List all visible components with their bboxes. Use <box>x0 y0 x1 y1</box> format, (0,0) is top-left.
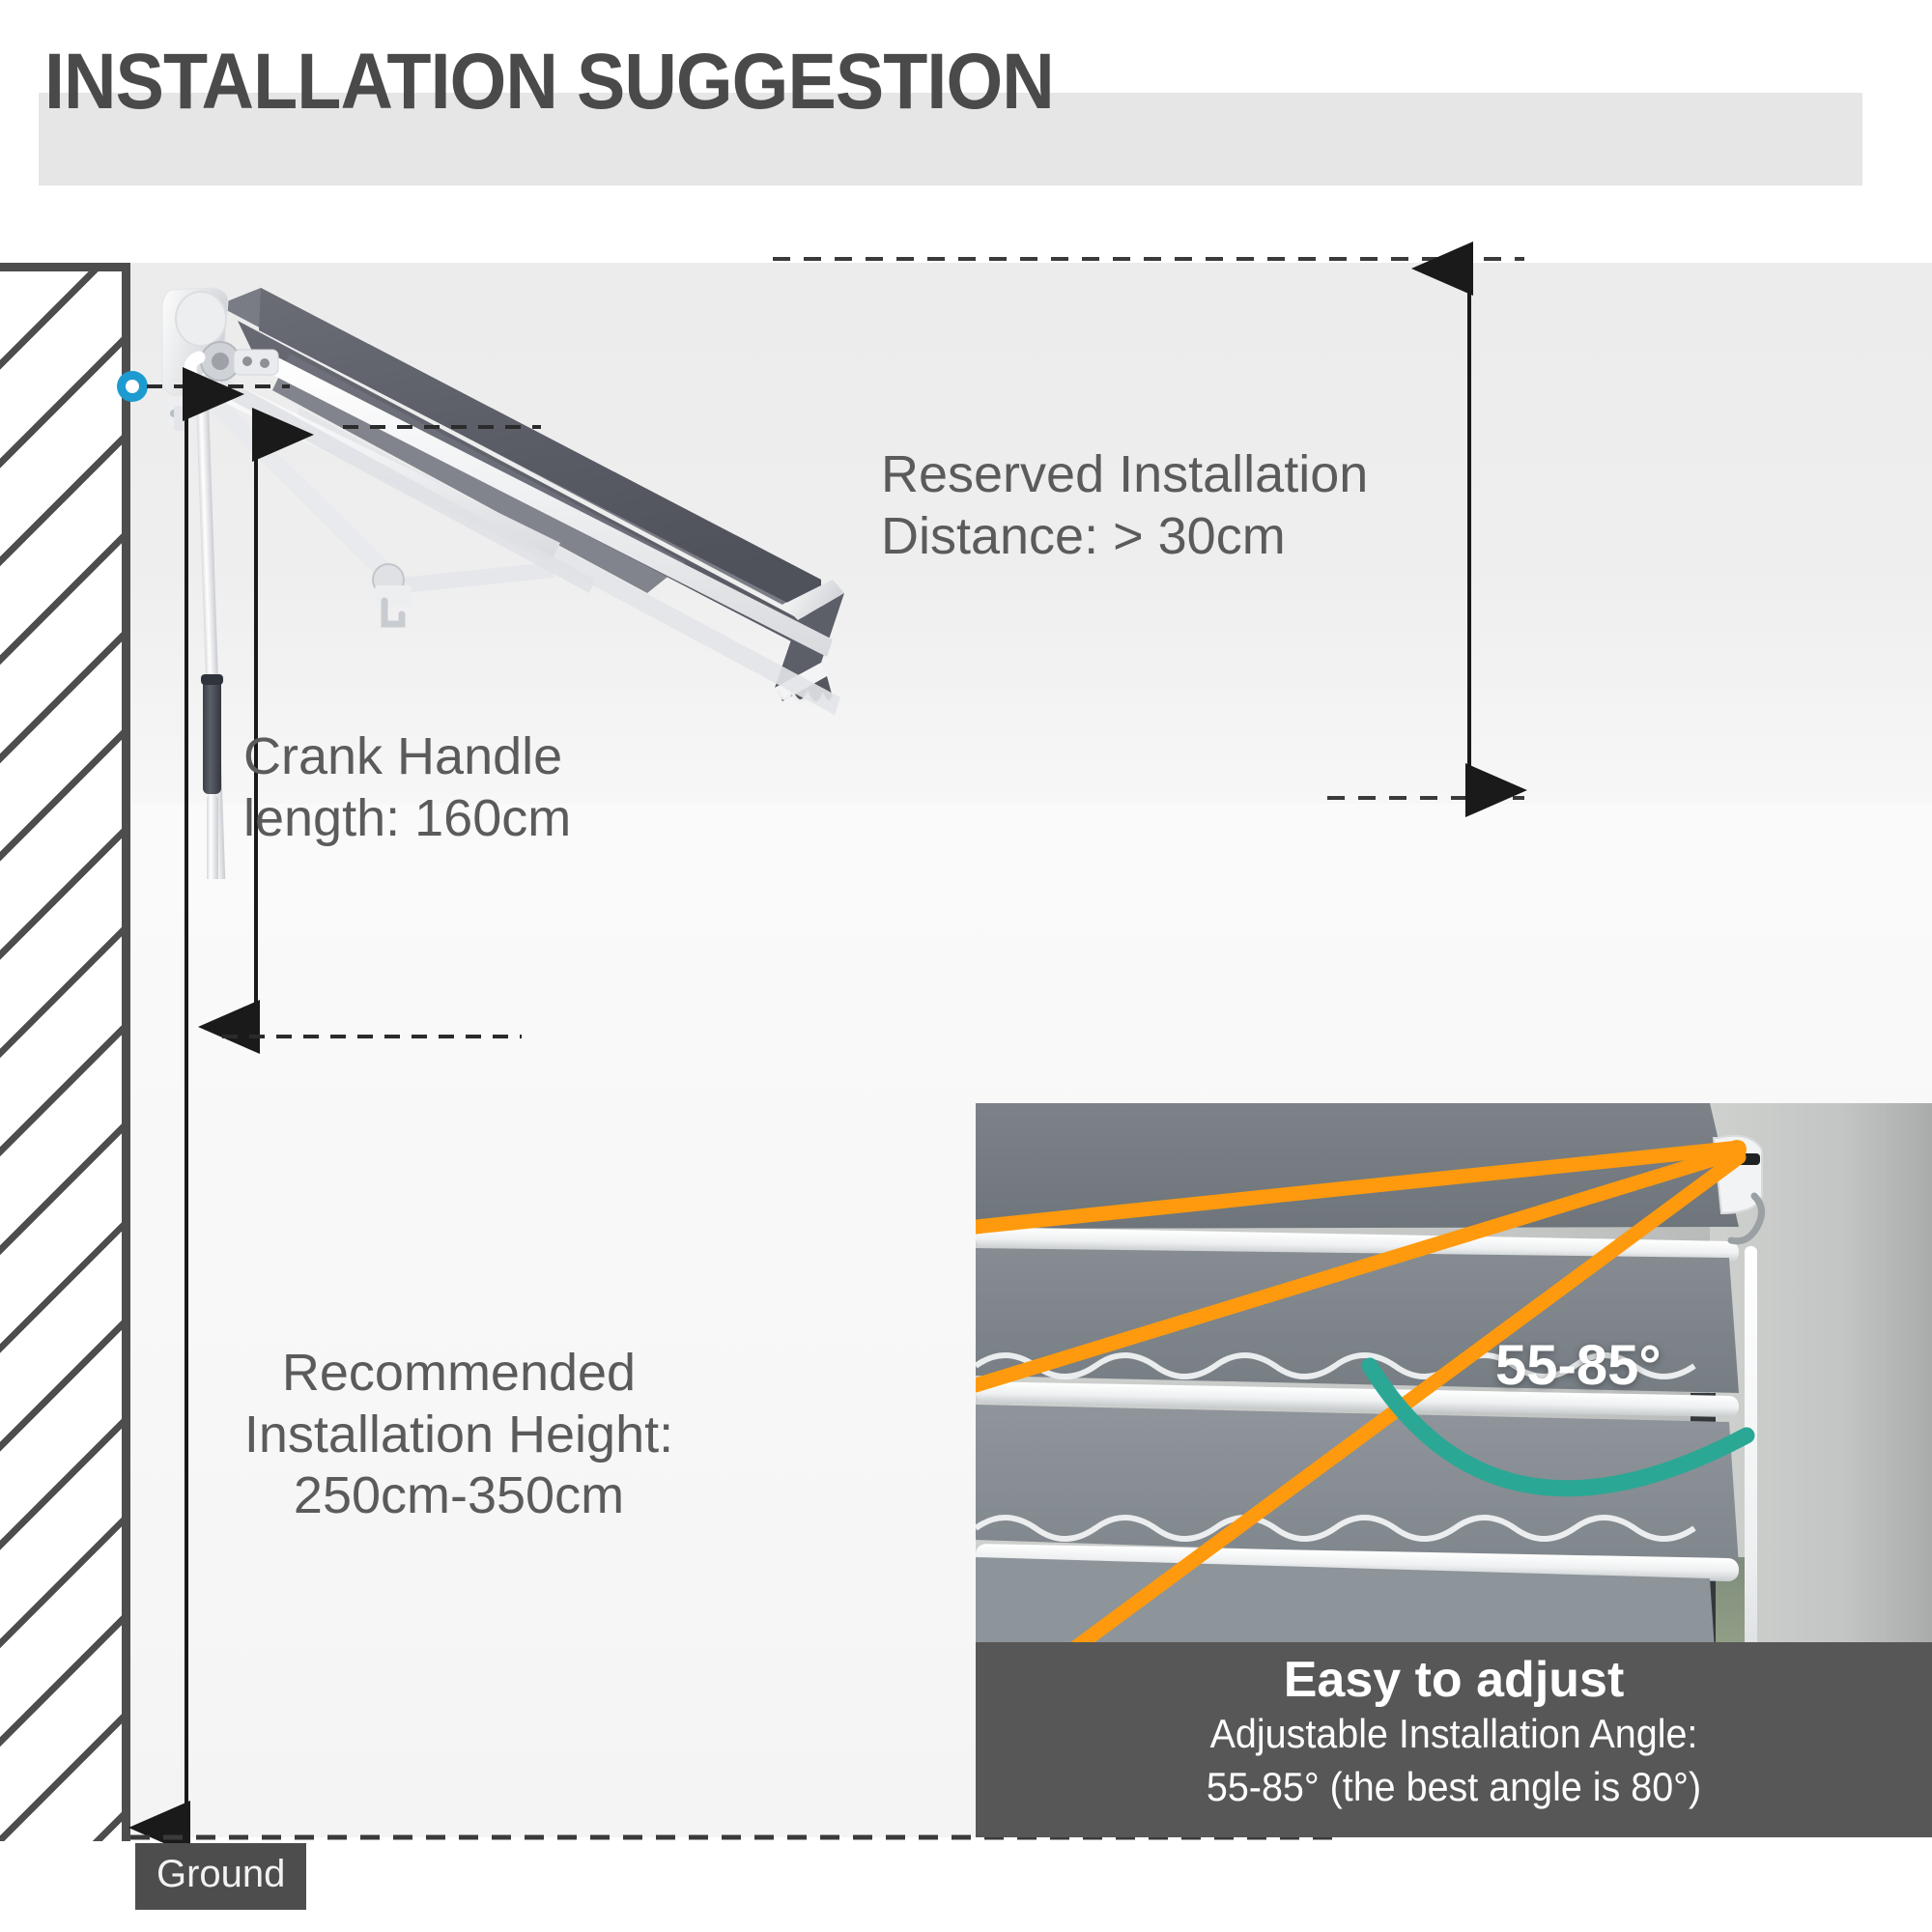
wall-hatch <box>0 263 130 1841</box>
caption-line-2: 55-85° (the best angle is 80°) <box>1005 1761 1904 1814</box>
page-title: INSTALLATION SUGGESTION <box>44 37 1054 128</box>
installation-height-label: Recommended Installation Height: 250cm-3… <box>188 1343 729 1527</box>
inset-caption-box: Easy to adjust Adjustable Installation A… <box>976 1642 1932 1837</box>
reserved-distance-label: Reserved Installation Distance: > 30cm <box>881 444 1368 567</box>
caption-title: Easy to adjust <box>976 1652 1932 1708</box>
caption-line-1: Adjustable Installation Angle: <box>1005 1708 1904 1761</box>
ground-label: Ground <box>135 1843 306 1910</box>
crank-handle-label: Crank Handle length: 160cm <box>243 726 571 849</box>
angle-range-badge: 55-85° <box>1495 1333 1662 1398</box>
